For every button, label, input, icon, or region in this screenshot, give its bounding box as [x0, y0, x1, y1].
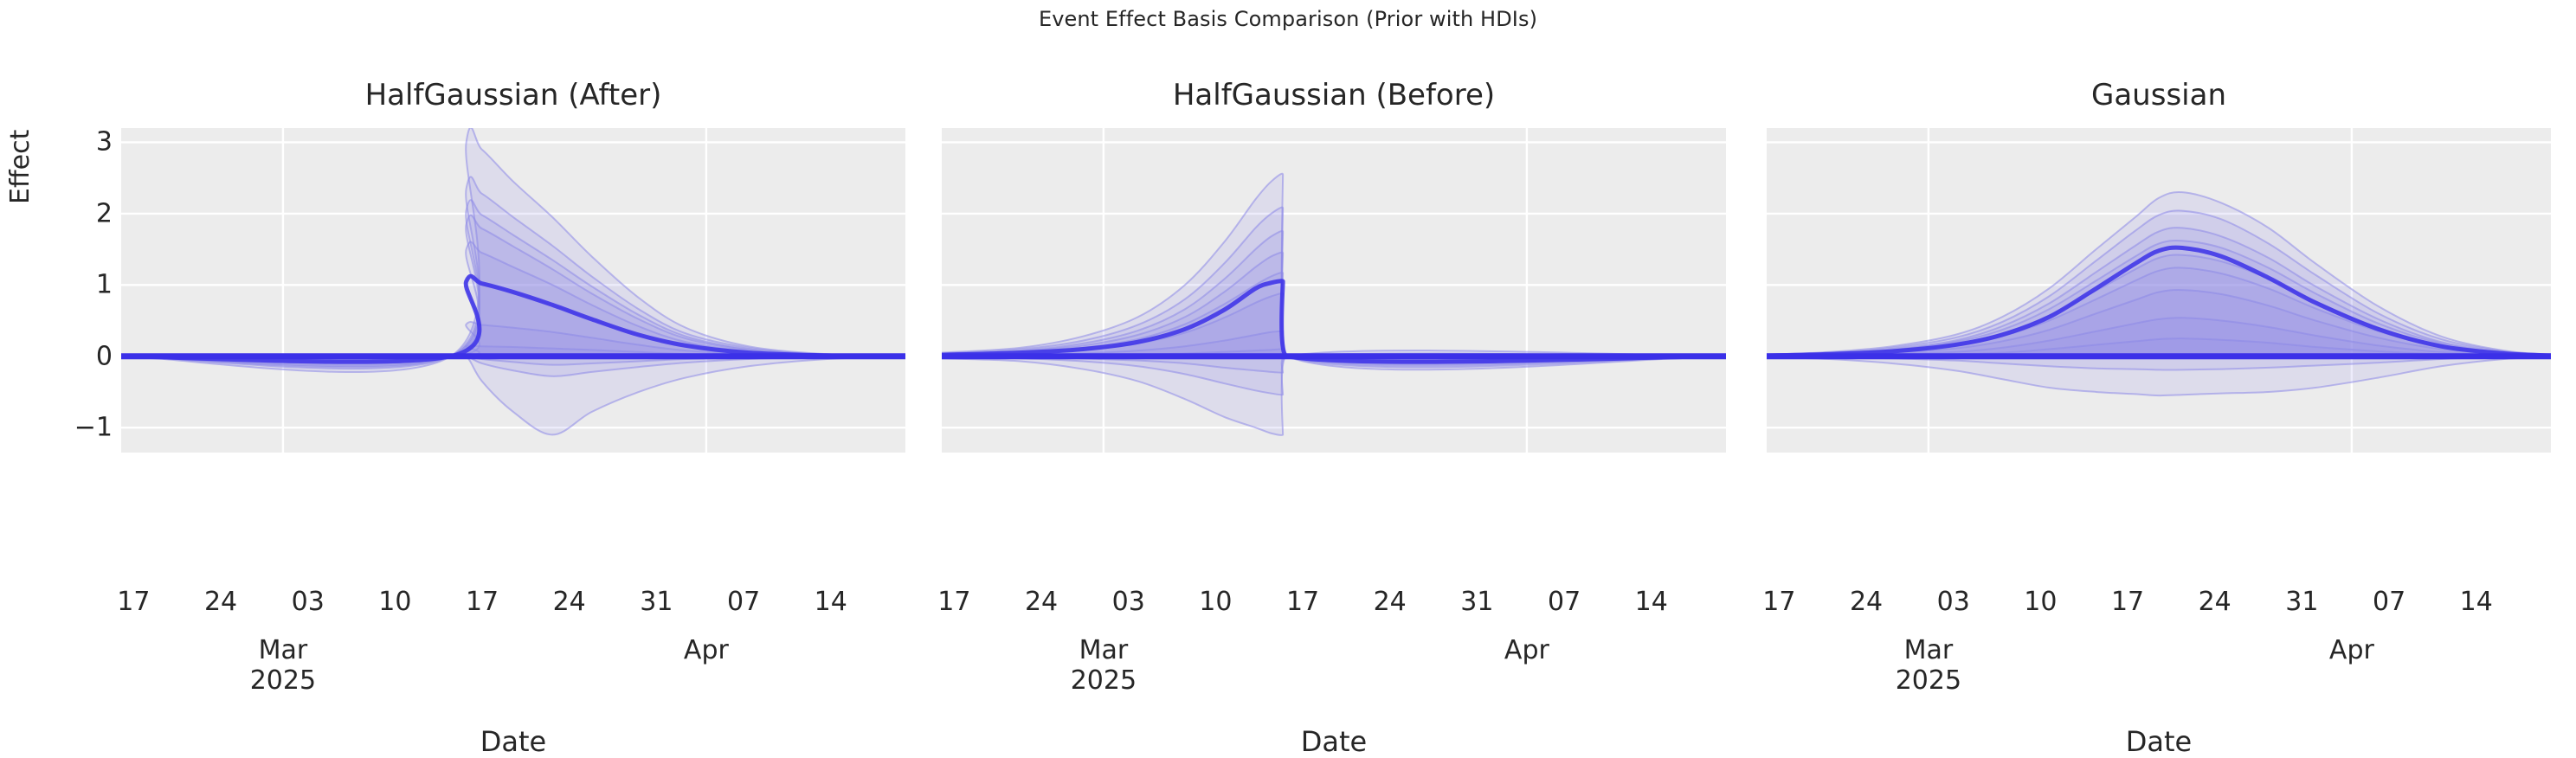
x-tick-halfgaussian-before-1: 24 [1002, 587, 1080, 617]
x-minor-tick-halfgaussian-before-0: Mar2025 [1008, 635, 1199, 697]
x-tick-halfgaussian-after-8: 14 [792, 587, 870, 617]
x-tick-halfgaussian-after-5: 24 [531, 587, 609, 617]
figure-title: Event Effect Basis Comparison (Prior wit… [0, 7, 2576, 31]
x-tick-halfgaussian-before-0: 17 [915, 587, 993, 617]
x-tick-halfgaussian-before-3: 10 [1176, 587, 1254, 617]
x-axis-label-gaussian: Date [1767, 725, 2551, 758]
y-tick-2: 1 [9, 270, 113, 300]
x-minor-tick-halfgaussian-after-1: Apr [611, 635, 802, 665]
plot-area-gaussian [1767, 128, 2551, 453]
panel-title-gaussian: Gaussian [1767, 78, 2551, 112]
x-minor-tick-gaussian-1: Apr [2257, 635, 2447, 665]
x-minor-tick-gaussian-0: Mar2025 [1833, 635, 2024, 697]
x-axis-label-halfgaussian-after: Date [121, 725, 905, 758]
x-tick-halfgaussian-after-6: 31 [617, 587, 695, 617]
x-tick-halfgaussian-before-8: 14 [1613, 587, 1690, 617]
panel-gaussian[interactable]: Gaussian172403101724310714Mar2025AprDate [1767, 128, 2551, 453]
panel-halfgaussian-after[interactable]: HalfGaussian (After)172403101724310714Ma… [121, 128, 905, 453]
x-tick-halfgaussian-before-7: 07 [1525, 587, 1603, 617]
x-tick-halfgaussian-before-5: 24 [1351, 587, 1429, 617]
x-tick-gaussian-4: 17 [2089, 587, 2167, 617]
x-axis-label-halfgaussian-before: Date [942, 725, 1726, 758]
x-tick-gaussian-6: 31 [2263, 587, 2341, 617]
x-tick-gaussian-5: 24 [2176, 587, 2254, 617]
y-tick-3: 0 [9, 341, 113, 371]
panel-halfgaussian-before[interactable]: HalfGaussian (Before)172403101724310714M… [942, 128, 1726, 453]
panel-title-halfgaussian-before: HalfGaussian (Before) [942, 78, 1726, 112]
x-tick-halfgaussian-after-0: 17 [94, 587, 172, 617]
figure-canvas: Event Effect Basis Comparison (Prior wit… [0, 0, 2576, 687]
x-tick-gaussian-7: 07 [2350, 587, 2428, 617]
y-tick-labels: 3210−1 [0, 128, 113, 453]
x-minor-tick-halfgaussian-before-1: Apr [1432, 635, 1622, 665]
x-tick-halfgaussian-after-1: 24 [182, 587, 260, 617]
x-tick-halfgaussian-before-2: 03 [1090, 587, 1168, 617]
x-tick-halfgaussian-after-7: 07 [705, 587, 782, 617]
y-tick-1: 2 [9, 198, 113, 228]
x-tick-halfgaussian-after-4: 17 [443, 587, 521, 617]
x-tick-gaussian-1: 24 [1827, 587, 1905, 617]
x-tick-halfgaussian-after-3: 10 [356, 587, 434, 617]
x-tick-gaussian-3: 10 [2001, 587, 2079, 617]
y-tick-0: 3 [9, 127, 113, 157]
median-line [942, 281, 1726, 362]
plot-area-halfgaussian-before [942, 128, 1726, 453]
x-tick-halfgaussian-after-2: 03 [269, 587, 347, 617]
panel-title-halfgaussian-after: HalfGaussian (After) [121, 78, 905, 112]
x-tick-halfgaussian-before-6: 31 [1438, 587, 1516, 617]
y-tick-4: −1 [9, 413, 113, 443]
x-tick-gaussian-0: 17 [1740, 587, 1818, 617]
x-minor-tick-halfgaussian-after-0: Mar2025 [188, 635, 378, 697]
x-tick-gaussian-2: 03 [1915, 587, 1993, 617]
x-tick-gaussian-8: 14 [2438, 587, 2515, 617]
x-tick-halfgaussian-before-4: 17 [1264, 587, 1342, 617]
plot-area-halfgaussian-after [121, 128, 905, 453]
